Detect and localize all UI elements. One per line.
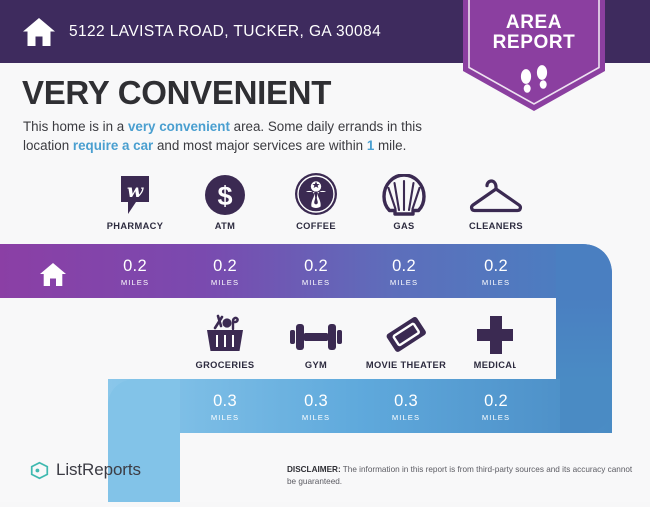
disclaimer: DISCLAIMER: The information in this repo…	[287, 464, 637, 487]
listreports-logo-text: ListReports	[56, 460, 141, 480]
distance-groceries: 0.3 MILES	[180, 393, 270, 422]
listreports-logo: ListReports	[30, 460, 141, 480]
distance-pharmacy: 0.2 MILES	[87, 258, 183, 287]
home-icon	[22, 17, 56, 47]
starbucks-coffee-icon	[270, 172, 362, 216]
disclaimer-label: DISCLAIMER:	[287, 465, 341, 474]
desc-part-4: mile.	[374, 138, 406, 153]
distance-unit: MILES	[87, 278, 183, 287]
amenity-label: COFFEE	[270, 221, 362, 231]
distance-value: 0.3	[356, 393, 456, 410]
amenity-pharmacy: w PHARMACY	[87, 172, 183, 231]
home-icon	[39, 262, 67, 287]
listreports-tag-icon	[30, 461, 49, 480]
amenity-atm: $ ATM	[182, 172, 268, 231]
distance-movie-theater: 0.3 MILES	[356, 393, 456, 422]
distance-cleaners: 0.2 MILES	[446, 258, 546, 287]
area-report-badge: AREA REPORT	[463, 0, 605, 111]
badge-text: AREA REPORT	[463, 13, 605, 53]
dollar-atm-icon: $	[182, 172, 268, 216]
distance-atm: 0.2 MILES	[182, 258, 268, 287]
amenity-coffee: COFFEE	[270, 172, 362, 231]
distance-value: 0.2	[270, 258, 362, 275]
badge-line-1: AREA	[463, 13, 605, 33]
distance-unit: MILES	[364, 278, 444, 287]
distance-coffee: 0.2 MILES	[270, 258, 362, 287]
amenity-label: CLEANERS	[446, 221, 546, 231]
svg-text:w: w	[127, 180, 144, 202]
amenity-cleaners: CLEANERS	[446, 172, 546, 231]
hanger-cleaners-icon	[446, 172, 546, 216]
distance-value: 0.2	[182, 258, 268, 275]
distance-unit: MILES	[452, 413, 540, 422]
distance-gas: 0.2 MILES	[364, 258, 444, 287]
distance-unit: MILES	[274, 413, 358, 422]
desc-highlight-convenient: very convenient	[128, 119, 230, 134]
distance-unit: MILES	[270, 278, 362, 287]
desc-part-1: This home is in a	[23, 119, 128, 134]
distance-unit: MILES	[180, 413, 270, 422]
amenity-icon-row-1: w PHARMACY $ ATM	[0, 172, 650, 234]
distance-value: 0.2	[446, 258, 546, 275]
distance-value: 0.2	[364, 258, 444, 275]
desc-part-3: and most major services are within	[153, 138, 367, 153]
amenity-label: PHARMACY	[87, 221, 183, 231]
amenity-label: GAS	[364, 221, 444, 231]
distance-value: 0.3	[180, 393, 270, 410]
area-report-infographic: 5122 LAVISTA ROAD, TUCKER, GA 30084 AREA…	[0, 0, 650, 502]
walgreens-pharmacy-icon: w	[87, 172, 183, 216]
svg-text:$: $	[217, 181, 232, 211]
distance-value: 0.3	[274, 393, 358, 410]
property-address: 5122 LAVISTA ROAD, TUCKER, GA 30084	[69, 23, 381, 41]
distance-unit: MILES	[446, 278, 546, 287]
amenity-label: ATM	[182, 221, 268, 231]
page-title: VERY CONVENIENT	[22, 74, 331, 112]
distance-value: 0.2	[87, 258, 183, 275]
distance-value: 0.2	[452, 393, 540, 410]
amenity-gas: GAS	[364, 172, 444, 231]
page-description: This home is in a very convenient area. …	[23, 117, 463, 155]
distance-gym: 0.3 MILES	[274, 393, 358, 422]
shell-gas-icon	[364, 172, 444, 216]
distance-unit: MILES	[182, 278, 268, 287]
distance-unit: MILES	[356, 413, 456, 422]
desc-highlight-require-car: require a car	[73, 138, 153, 153]
badge-line-2: REPORT	[463, 33, 605, 53]
distance-medical: 0.2 MILES	[452, 393, 540, 422]
